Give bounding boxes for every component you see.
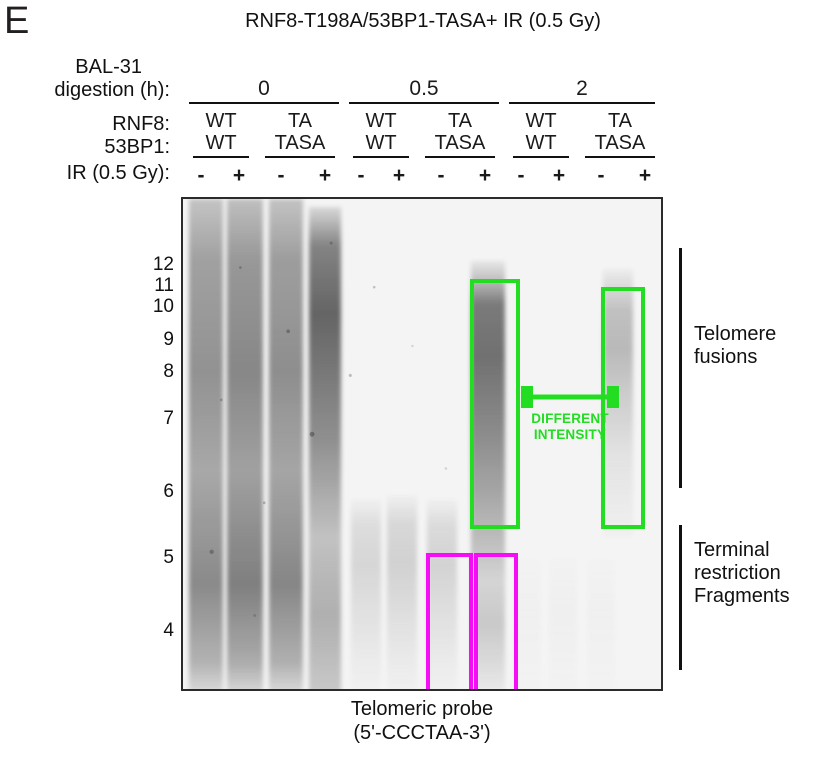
genotype-column-rule [265, 156, 335, 158]
lane-smear [351, 499, 381, 691]
genotype-rnf8-value: TA [261, 110, 339, 132]
molecular-weight-markers: 121110987654 [120, 197, 178, 692]
ir-sign-9: + [547, 165, 571, 186]
magenta-highlight-box-2 [474, 553, 518, 691]
marker-label-6: 6 [163, 482, 174, 501]
ir-sign-4: - [349, 165, 373, 186]
gel-header: 00.52 WTWTTATASAWTWTTATASAWTWTTATASA -+-… [181, 0, 663, 197]
ir-sign-8: - [509, 165, 533, 186]
label-rnf8: RNF8: [0, 114, 178, 136]
lane-smear [269, 199, 303, 691]
different-intensity-arrow [521, 386, 619, 408]
side-label-1: Telomerefusions [694, 323, 776, 369]
genotype-column-rule [353, 156, 409, 158]
marker-label-10: 10 [153, 297, 174, 316]
gel-image-panel [181, 197, 663, 691]
marker-label-8: 8 [163, 362, 174, 381]
genotype-rnf8-value: WT [347, 110, 415, 132]
genotype-column-1: TATASA [261, 110, 339, 158]
genotype-column-rule [585, 156, 655, 158]
marker-label-9: 9 [163, 330, 174, 349]
gel-lane-5 [351, 199, 381, 689]
green-highlight-box-1 [470, 279, 520, 529]
genotype-rnf8-value: TA [421, 110, 499, 132]
lane-smear [189, 199, 223, 691]
gel-lane-10 [549, 199, 577, 689]
side-bracket-1 [679, 248, 682, 488]
marker-label-5: 5 [163, 548, 174, 567]
genotype-column-rule [513, 156, 569, 158]
digestion-group-0: 0 [189, 78, 339, 104]
ir-sign-3: + [313, 165, 337, 186]
genotype-column-5: TATASA [581, 110, 659, 158]
gel-lane-4 [309, 199, 341, 689]
intensity-line-2: INTENSITY [516, 427, 624, 443]
lane-smear [387, 495, 417, 691]
gel-lane-2 [227, 199, 263, 689]
genotype-53bp1-value: WT [187, 132, 255, 154]
ir-sign-5: + [387, 165, 411, 186]
green-highlight-box-2 [601, 287, 645, 529]
side-label-line: fusions [694, 346, 776, 369]
digestion-group-2: 2 [509, 78, 655, 104]
intensity-line-1: DIFFERENT [516, 411, 624, 427]
genotype-column-2: WTWT [347, 110, 415, 158]
different-intensity-label: DIFFERENT INTENSITY [516, 411, 624, 442]
header-row-labels: BAL-31 digestion (h): RNF8: 53BP1: IR (0… [0, 0, 178, 200]
digestion-group-1: 0.5 [349, 78, 499, 104]
side-label-line: Telomere [694, 323, 776, 346]
ir-sign-7: + [473, 165, 497, 186]
genotype-column-rule [425, 156, 495, 158]
side-label-line: restriction [694, 562, 790, 585]
side-label-2: TerminalrestrictionFragments [694, 539, 790, 609]
genotype-column-4: WTWT [507, 110, 575, 158]
genotype-53bp1-value: WT [507, 132, 575, 154]
digestion-group-value: 0.5 [349, 78, 499, 102]
gel-lane-3 [269, 199, 303, 689]
marker-label-12: 12 [153, 255, 174, 274]
genotype-rnf8-value: TA [581, 110, 659, 132]
label-digestion: digestion (h): [0, 80, 178, 102]
genotype-53bp1-value: TASA [261, 132, 339, 154]
label-53bp1: 53BP1: [0, 137, 178, 159]
digestion-group-rule [349, 102, 499, 104]
genotype-column-3: TATASA [421, 110, 499, 158]
genotype-rnf8-value: WT [187, 110, 255, 132]
probe-caption-line-2: (5'-CCCTAA-3') [181, 721, 663, 745]
marker-label-7: 7 [163, 409, 174, 428]
lane-smear [549, 559, 577, 691]
lane-smear [227, 199, 263, 691]
genotype-column-0: WTWT [187, 110, 255, 158]
genotype-column-rule [193, 156, 249, 158]
gel-lane-6 [387, 199, 417, 689]
probe-caption-line-1: Telomeric probe [181, 697, 663, 721]
probe-caption: Telomeric probe (5'-CCCTAA-3') [181, 697, 663, 745]
digestion-group-value: 2 [509, 78, 655, 102]
label-ir: IR (0.5 Gy): [0, 163, 178, 185]
ir-sign-0: - [189, 165, 213, 186]
ir-sign-1: + [227, 165, 251, 186]
genotype-53bp1-value: WT [347, 132, 415, 154]
marker-label-11: 11 [154, 276, 174, 295]
genotype-53bp1-value: TASA [581, 132, 659, 154]
side-bracket-2 [679, 525, 682, 670]
gel-lane-1 [189, 199, 223, 689]
magenta-highlight-box-1 [426, 553, 473, 691]
ir-sign-6: - [429, 165, 453, 186]
genotype-rnf8-value: WT [507, 110, 575, 132]
label-bal31: BAL-31 [0, 57, 178, 79]
digestion-group-rule [189, 102, 339, 104]
ir-sign-11: + [633, 165, 657, 186]
ir-sign-10: - [589, 165, 613, 186]
lane-smear [309, 207, 341, 691]
marker-label-4: 4 [163, 621, 174, 640]
digestion-group-value: 0 [189, 78, 339, 102]
genotype-53bp1-value: TASA [421, 132, 499, 154]
digestion-group-rule [509, 102, 655, 104]
side-label-line: Terminal [694, 539, 790, 562]
ir-sign-2: - [269, 165, 293, 186]
side-label-line: Fragments [694, 585, 790, 608]
